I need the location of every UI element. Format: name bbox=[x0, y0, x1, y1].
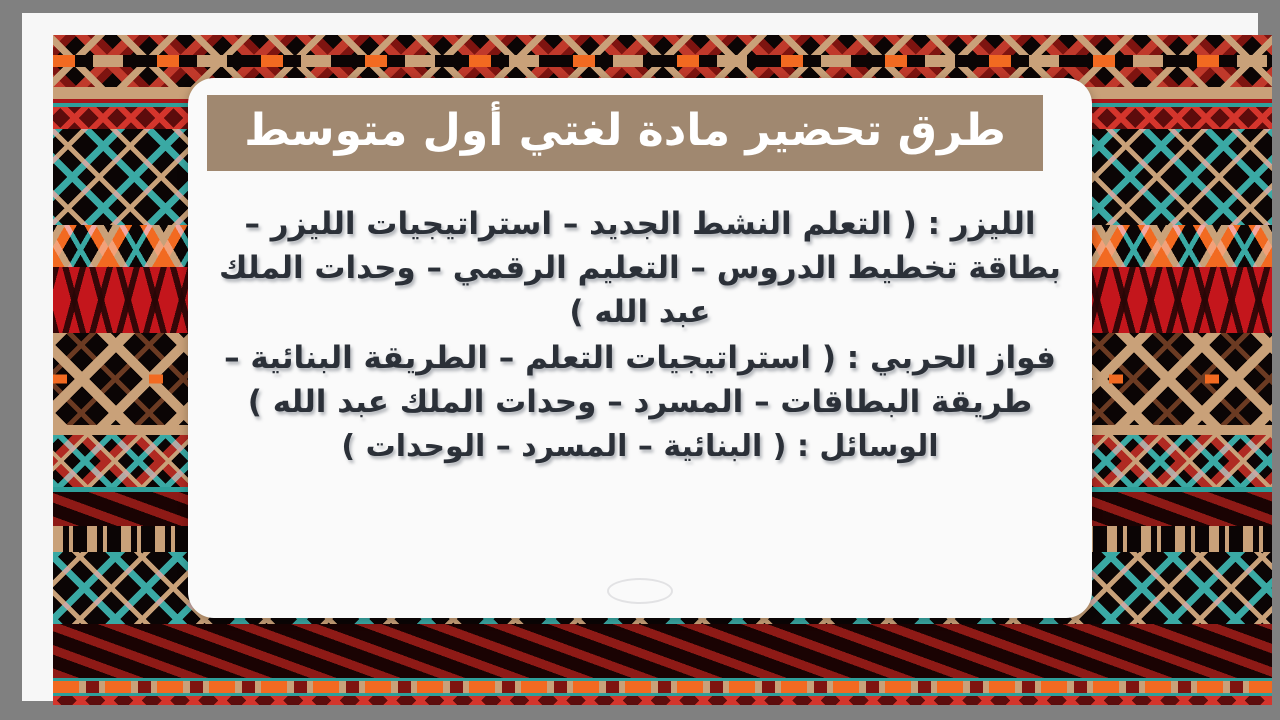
paragraph-fawaz-alharbi: فواز الحربي : ( استراتيجيات التعلم – الط… bbox=[202, 336, 1078, 424]
textile-band-red-diamond-footer bbox=[53, 696, 1272, 705]
body-text-block: الليزر : ( التعلم النشط الجديد – استراتي… bbox=[202, 202, 1078, 471]
slide-root: طرق تحضير مادة لغتي أول متوسط الليزر : (… bbox=[0, 0, 1280, 720]
textile-band-dark-serpent-2 bbox=[53, 624, 1272, 678]
paragraph-wasail: الوسائل : ( البنائية – المسرد – الوحدات … bbox=[202, 426, 1078, 469]
paragraph-laser: الليزر : ( التعلم النشط الجديد – استراتي… bbox=[202, 202, 1078, 334]
page-title: طرق تحضير مادة لغتي أول متوسط bbox=[207, 109, 1043, 153]
textile-band-orange-zipper bbox=[53, 678, 1272, 696]
card-smudge-artifact bbox=[607, 578, 673, 604]
title-banner: طرق تحضير مادة لغتي أول متوسط bbox=[207, 95, 1043, 171]
content-card: طرق تحضير مادة لغتي أول متوسط الليزر : (… bbox=[188, 78, 1092, 618]
